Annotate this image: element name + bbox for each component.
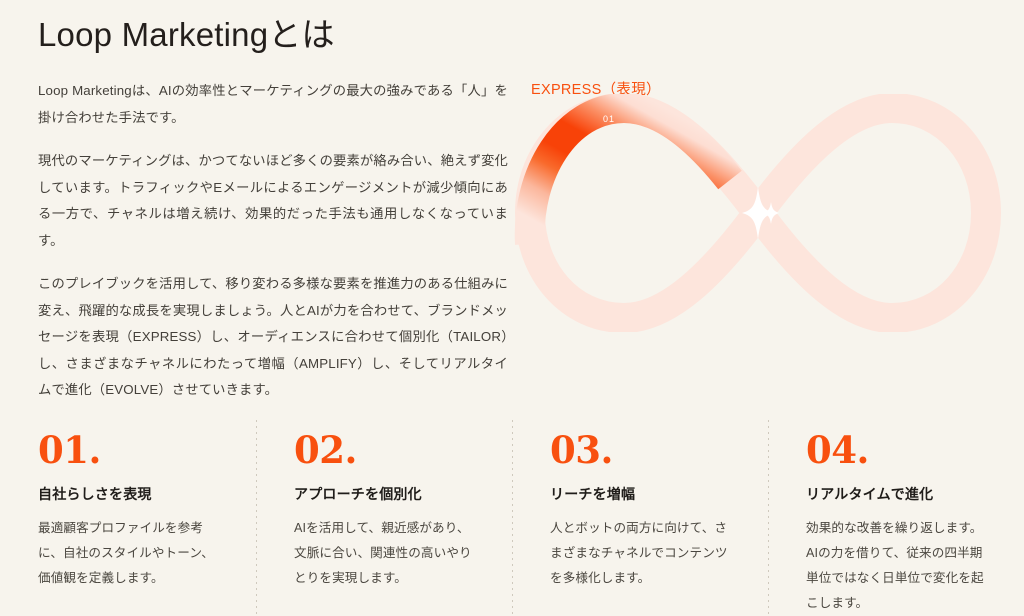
step-card-04: 04. リアルタイムで進化 効果的な改善を繰り返します。AIの力を借りて、従来の… [768,418,1024,616]
loop-diagram: EXPRESS（表現） 01 [508,72,1008,332]
step-card-03: 03. リーチを増幅 人とボットの両方に向けて、さまざまなチャネルでコンテンツを… [512,418,768,616]
steps-card-row: 01. 自社らしさを表現 最適顧客プロファイルを参考に、自社のスタイルやトーン、… [0,418,1024,616]
step-number: 03. [550,432,738,469]
loop-step-badge: 01 [603,114,615,124]
step-card-01: 01. 自社らしさを表現 最適顧客プロファイルを参考に、自社のスタイルやトーン、… [0,418,256,616]
infinity-loop-icon [508,94,1008,332]
intro-paragraph-2: 現代のマーケティングは、かつてないほど多くの要素が絡み合い、絶えず変化しています… [38,148,508,254]
step-heading: リアルタイムで進化 [806,485,994,504]
intro-paragraph-3: このプレイブックを活用して、移り変わる多様な要素を推進力のある仕組みに変え、飛躍… [38,271,508,404]
step-description: 効果的な改善を繰り返します。AIの力を借りて、従来の四半期単位ではなく日単位で変… [806,516,994,616]
intro-text-column: Loop Marketingは、AIの効率性とマーケティングの最大の強みである「… [38,78,508,404]
loop-ribbon-active-segment [530,108,730,244]
page-title: Loop Marketingとは [38,8,335,56]
intro-paragraph-1: Loop Marketingは、AIの効率性とマーケティングの最大の強みである「… [38,78,508,131]
step-heading: アプローチを個別化 [294,485,482,504]
step-description: 人とボットの両方に向けて、さまざまなチャネルでコンテンツを多様化します。 [550,516,738,591]
step-number: 01. [38,432,226,469]
step-number: 02. [294,432,482,469]
step-heading: 自社らしさを表現 [38,485,226,504]
step-description: AIを活用して、親近感があり、文脈に合い、関連性の高いやりとりを実現します。 [294,516,482,591]
step-heading: リーチを増幅 [550,485,738,504]
step-card-02: 02. アプローチを個別化 AIを活用して、親近感があり、文脈に合い、関連性の高… [256,418,512,616]
step-number: 04. [806,432,994,469]
step-description: 最適顧客プロファイルを参考に、自社のスタイルやトーン、価値観を定義します。 [38,516,226,591]
